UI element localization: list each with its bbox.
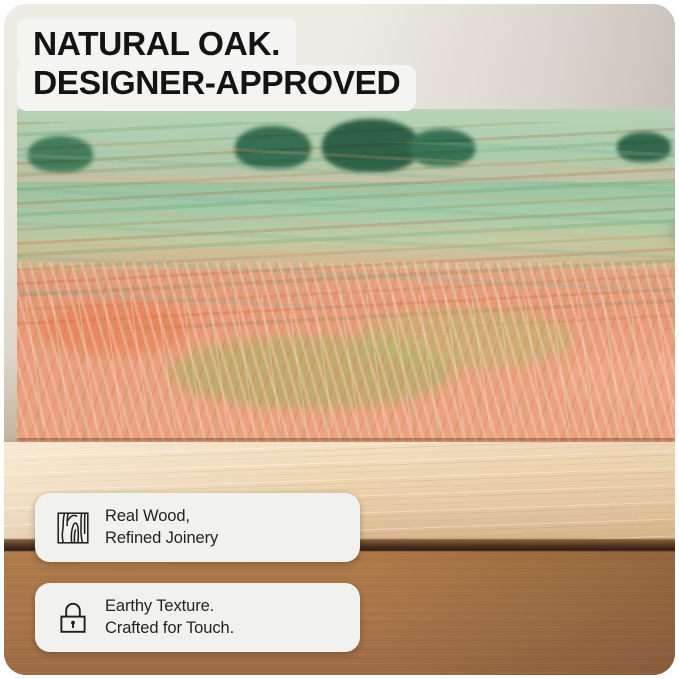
product-photo: NATURAL OAK. DESIGNER-APPROVED Real Wood… (4, 4, 675, 675)
feature-card-text: Earthy Texture. Crafted for Touch. (105, 596, 234, 639)
feature-card-earthy-texture: Earthy Texture. Crafted for Touch. (35, 583, 360, 652)
feature-card-line-2: Crafted for Touch. (105, 618, 234, 639)
feature-card-line-1: Earthy Texture. (105, 596, 234, 617)
headline-line-2: DESIGNER-APPROVED (17, 65, 416, 112)
feature-card-line-2: Refined Joinery (105, 528, 218, 549)
padlock-icon (55, 600, 91, 636)
headline-line-1: NATURAL OAK. (17, 18, 296, 66)
feature-card-text: Real Wood, Refined Joinery (105, 506, 218, 549)
feature-card-real-wood: Real Wood, Refined Joinery (35, 493, 360, 562)
headline-badge: NATURAL OAK. DESIGNER-APPROVED (17, 18, 487, 111)
painting-vignette (17, 109, 675, 442)
product-image: NATURAL OAK. DESIGNER-APPROVED Real Wood… (0, 0, 679, 679)
wood-grain-icon (55, 510, 91, 546)
feature-card-line-1: Real Wood, (105, 506, 218, 527)
artwork-canvas (17, 109, 675, 442)
painting (17, 109, 675, 442)
